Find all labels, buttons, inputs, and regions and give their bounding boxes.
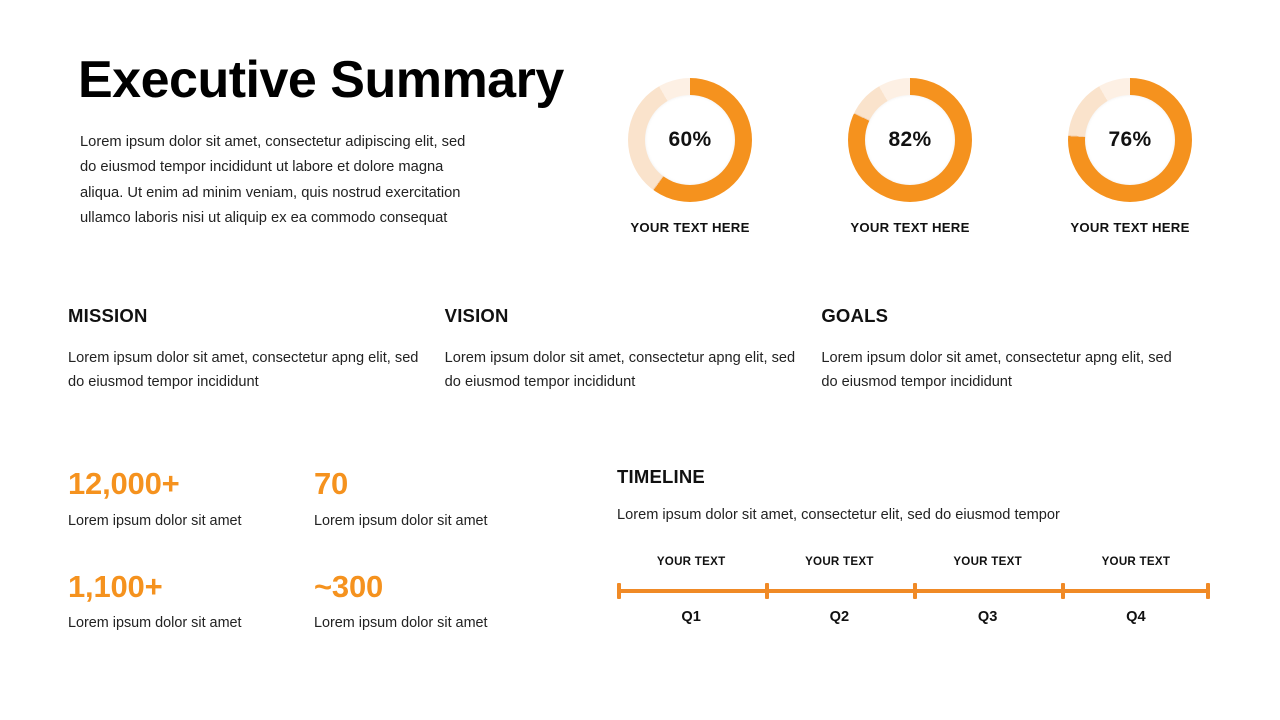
timeline-top-label: YOUR TEXT (765, 555, 913, 568)
donut-caption: YOUR TEXT HERE (850, 220, 969, 235)
timeline-quarter-label: Q1 (617, 609, 765, 625)
timeline-bottom-labels: Q1 Q2 Q3 Q4 (617, 609, 1210, 625)
stats-row: 1,100+ Lorem ipsum dolor sit amet ~300 L… (68, 569, 568, 632)
donut-caption: YOUR TEXT HERE (1070, 220, 1189, 235)
stat-value: 1,100+ (68, 569, 314, 605)
timeline-quarter-label: Q3 (914, 609, 1062, 625)
pillar-goals: GOALS Lorem ipsum dolor sit amet, consec… (821, 305, 1198, 394)
timeline-graphic: YOUR TEXT YOUR TEXT YOUR TEXT YOUR TEXT … (617, 555, 1210, 625)
timeline-quarter-label: Q2 (765, 609, 913, 625)
stat-value: 12,000+ (68, 466, 314, 502)
stat-item: 1,100+ Lorem ipsum dolor sit amet (68, 569, 314, 632)
timeline-quarter-label: Q4 (1062, 609, 1210, 625)
timeline-tick (765, 583, 769, 599)
donut-chart-1: 60% (628, 78, 752, 202)
timeline-tick (913, 583, 917, 599)
donut-value-label: 76% (1068, 78, 1192, 202)
pillar-vision: VISION Lorem ipsum dolor sit amet, conse… (445, 305, 822, 394)
timeline-top-label: YOUR TEXT (914, 555, 1062, 568)
timeline-title: TIMELINE (617, 466, 1217, 488)
timeline-section: TIMELINE Lorem ipsum dolor sit amet, con… (617, 466, 1217, 625)
pillar-body: Lorem ipsum dolor sit amet, consectetur … (68, 347, 423, 394)
pillar-body: Lorem ipsum dolor sit amet, consectetur … (821, 347, 1176, 394)
page-title: Executive Summary (78, 52, 564, 109)
donut-chart-2: 82% (848, 78, 972, 202)
timeline-tick (1061, 583, 1065, 599)
stats-section: 12,000+ Lorem ipsum dolor sit amet 70 Lo… (68, 466, 568, 631)
timeline-top-label: YOUR TEXT (617, 555, 765, 568)
stats-row: 12,000+ Lorem ipsum dolor sit amet 70 Lo… (68, 466, 568, 529)
kpi-donut-item: 60% YOUR TEXT HERE (600, 78, 780, 235)
timeline-tick (1206, 583, 1210, 599)
slide-executive-summary: Executive Summary Lorem ipsum dolor sit … (0, 0, 1280, 720)
intro-paragraph: Lorem ipsum dolor sit amet, consectetur … (80, 130, 484, 232)
timeline-axis (617, 589, 1210, 593)
pillar-mission: MISSION Lorem ipsum dolor sit amet, cons… (68, 305, 445, 394)
pillar-title: VISION (445, 305, 822, 327)
timeline-subtitle: Lorem ipsum dolor sit amet, consectetur … (617, 507, 1217, 523)
stat-value: ~300 (314, 569, 560, 605)
kpi-donut-item: 82% YOUR TEXT HERE (820, 78, 1000, 235)
donut-chart-3: 76% (1068, 78, 1192, 202)
pillars-section: MISSION Lorem ipsum dolor sit amet, cons… (68, 305, 1198, 394)
stat-caption: Lorem ipsum dolor sit amet (314, 513, 560, 529)
kpi-donut-item: 76% YOUR TEXT HERE (1040, 78, 1220, 235)
kpi-donut-group: 60% YOUR TEXT HERE 82% YOUR TEXT HERE 76… (600, 78, 1220, 235)
timeline-top-labels: YOUR TEXT YOUR TEXT YOUR TEXT YOUR TEXT (617, 555, 1210, 568)
donut-value-label: 82% (848, 78, 972, 202)
pillar-title: MISSION (68, 305, 445, 327)
stat-item: 70 Lorem ipsum dolor sit amet (314, 466, 560, 529)
stat-value: 70 (314, 466, 560, 502)
timeline-top-label: YOUR TEXT (1062, 555, 1210, 568)
stat-caption: Lorem ipsum dolor sit amet (68, 615, 314, 631)
stat-caption: Lorem ipsum dolor sit amet (68, 513, 314, 529)
timeline-tick (617, 583, 621, 599)
stat-item: ~300 Lorem ipsum dolor sit amet (314, 569, 560, 632)
pillar-title: GOALS (821, 305, 1198, 327)
pillar-body: Lorem ipsum dolor sit amet, consectetur … (445, 347, 800, 394)
donut-caption: YOUR TEXT HERE (630, 220, 749, 235)
stat-item: 12,000+ Lorem ipsum dolor sit amet (68, 466, 314, 529)
stat-caption: Lorem ipsum dolor sit amet (314, 615, 560, 631)
donut-value-label: 60% (628, 78, 752, 202)
